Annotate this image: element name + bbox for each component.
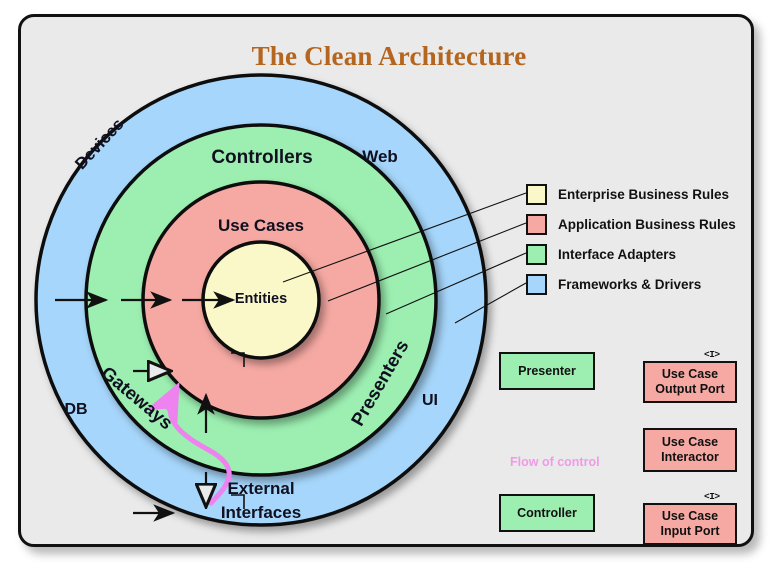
ring-label-external-interfaces-line2: Interfaces (181, 503, 341, 523)
flowbox-use-case-output-port: Use Case Output Port (643, 361, 737, 403)
legend-label-application: Application Business Rules (558, 217, 736, 232)
legend-swatch-application-icon (526, 214, 547, 235)
ring-label-devices: Devices (56, 98, 145, 191)
flowbox-input-port-line1: Use Case (662, 509, 718, 524)
flowbox-presenter-label: Presenter (518, 364, 576, 379)
ring-label-presenters: Presenters (335, 317, 424, 449)
ring-label-gateways: Gateways (78, 346, 196, 450)
interface-marker-output-port: <I> (704, 349, 720, 360)
legend-label-adapters: Interface Adapters (558, 247, 676, 262)
legend-item-application-business-rules: Application Business Rules (526, 214, 736, 235)
flowbox-presenter: Presenter (499, 352, 595, 390)
flowbox-controller-label: Controller (517, 506, 577, 521)
ring-label-ui: UI (405, 392, 455, 410)
interface-marker-input-port: <I> (704, 491, 720, 502)
legend-label-enterprise: Enterprise Business Rules (558, 187, 729, 202)
flowbox-use-case-input-port: Use Case Input Port (643, 503, 737, 545)
ring-label-db: DB (41, 401, 111, 419)
flowbox-output-port-line2: Output Port (655, 382, 724, 397)
legend-swatch-adapters-icon (526, 244, 547, 265)
flow-of-control-label: Flow of control (510, 455, 600, 469)
ring-label-entities: Entities (201, 291, 321, 307)
ring-label-controllers: Controllers (167, 147, 357, 169)
ring-label-web: Web (335, 147, 425, 167)
diagram-frame: The Clean Architecture (18, 14, 754, 547)
legend-label-frameworks: Frameworks & Drivers (558, 277, 701, 292)
legend-item-frameworks-and-drivers: Frameworks & Drivers (526, 274, 701, 295)
legend-item-enterprise-business-rules: Enterprise Business Rules (526, 184, 729, 205)
flowbox-use-case-interactor: Use Case Interactor (643, 428, 737, 472)
flowbox-interactor-line1: Use Case (662, 435, 718, 450)
page-title: The Clean Architecture (21, 41, 757, 72)
flowbox-input-port-line2: Input Port (660, 524, 719, 539)
flowbox-output-port-line1: Use Case (662, 367, 718, 382)
legend-swatch-enterprise-icon (526, 184, 547, 205)
ring-label-external-interfaces-line1: External (181, 479, 341, 499)
clean-architecture-diagram: The Clean Architecture (0, 0, 772, 567)
flowbox-controller: Controller (499, 494, 595, 532)
legend-item-interface-adapters: Interface Adapters (526, 244, 676, 265)
legend-swatch-frameworks-icon (526, 274, 547, 295)
flowbox-interactor-line2: Interactor (661, 450, 719, 465)
ring-label-use-cases: Use Cases (181, 216, 341, 236)
